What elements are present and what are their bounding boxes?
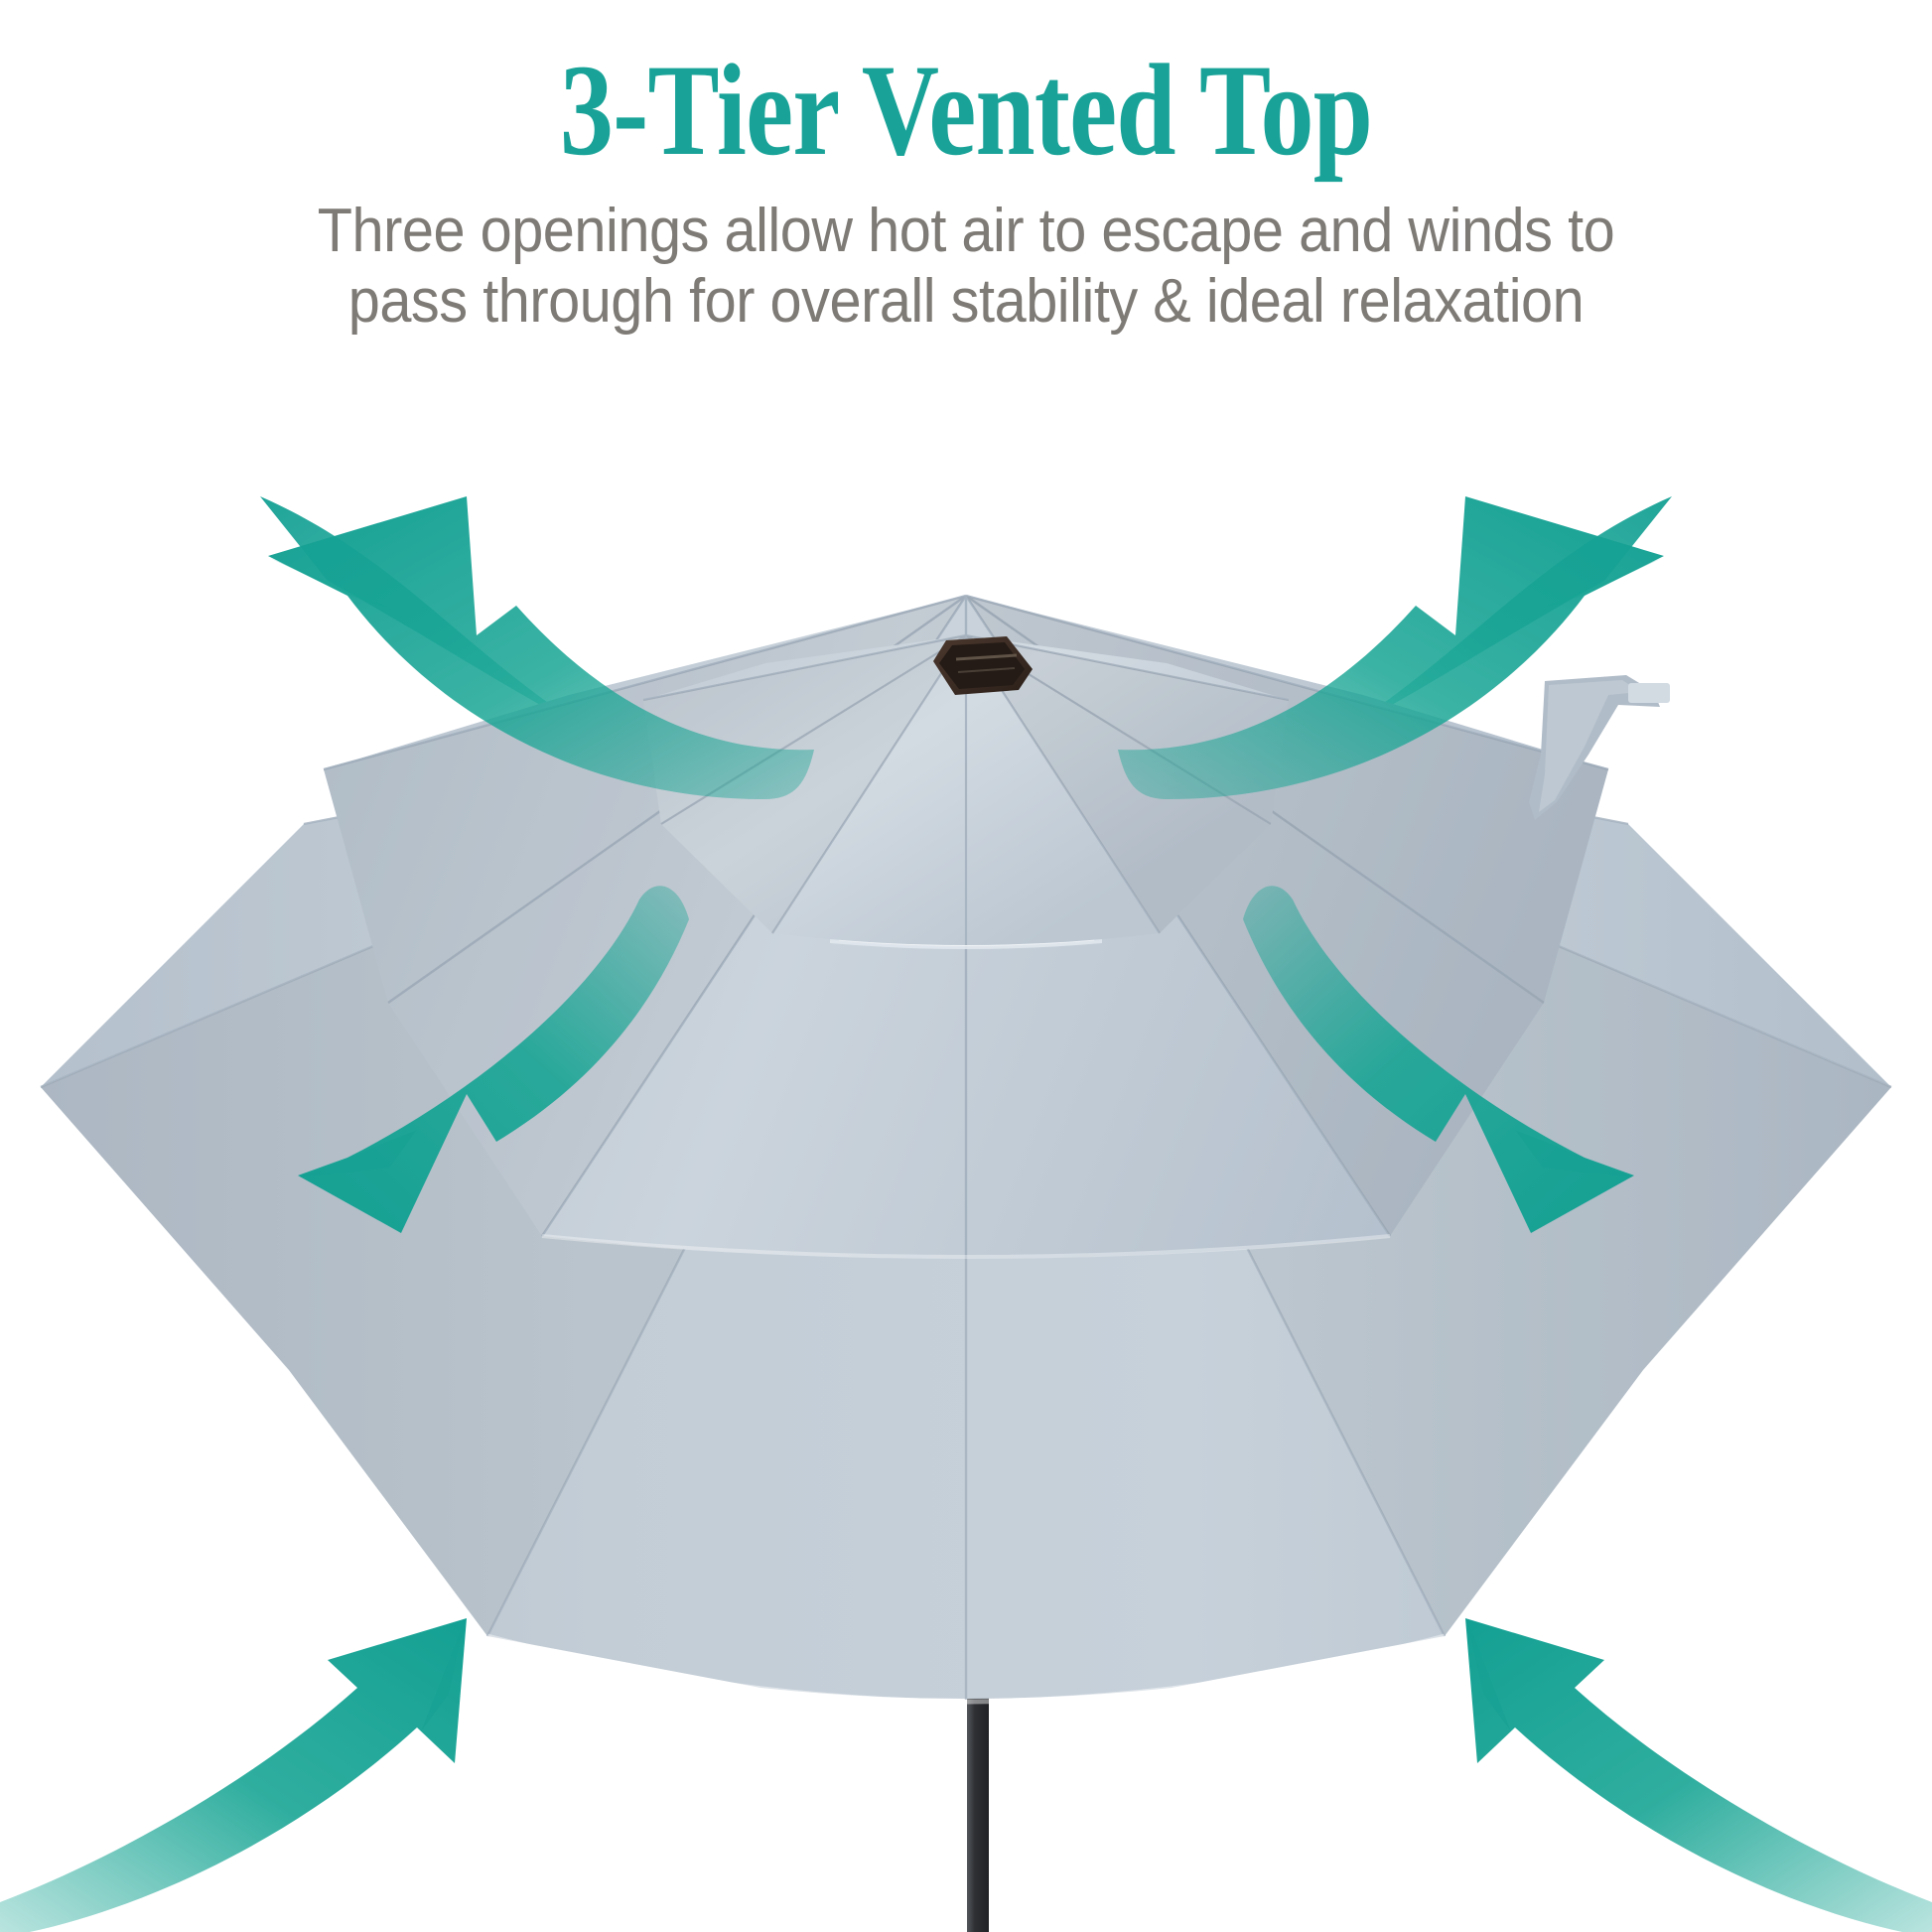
airflow-arrow-bottom-right (1465, 1618, 1932, 1932)
velcro-patch (1628, 683, 1670, 703)
product-feature-card: 3-Tier Vented Top Three openings allow h… (0, 0, 1932, 1932)
airflow-arrow-bottom-left (0, 1618, 467, 1932)
umbrella-illustration (0, 0, 1932, 1932)
